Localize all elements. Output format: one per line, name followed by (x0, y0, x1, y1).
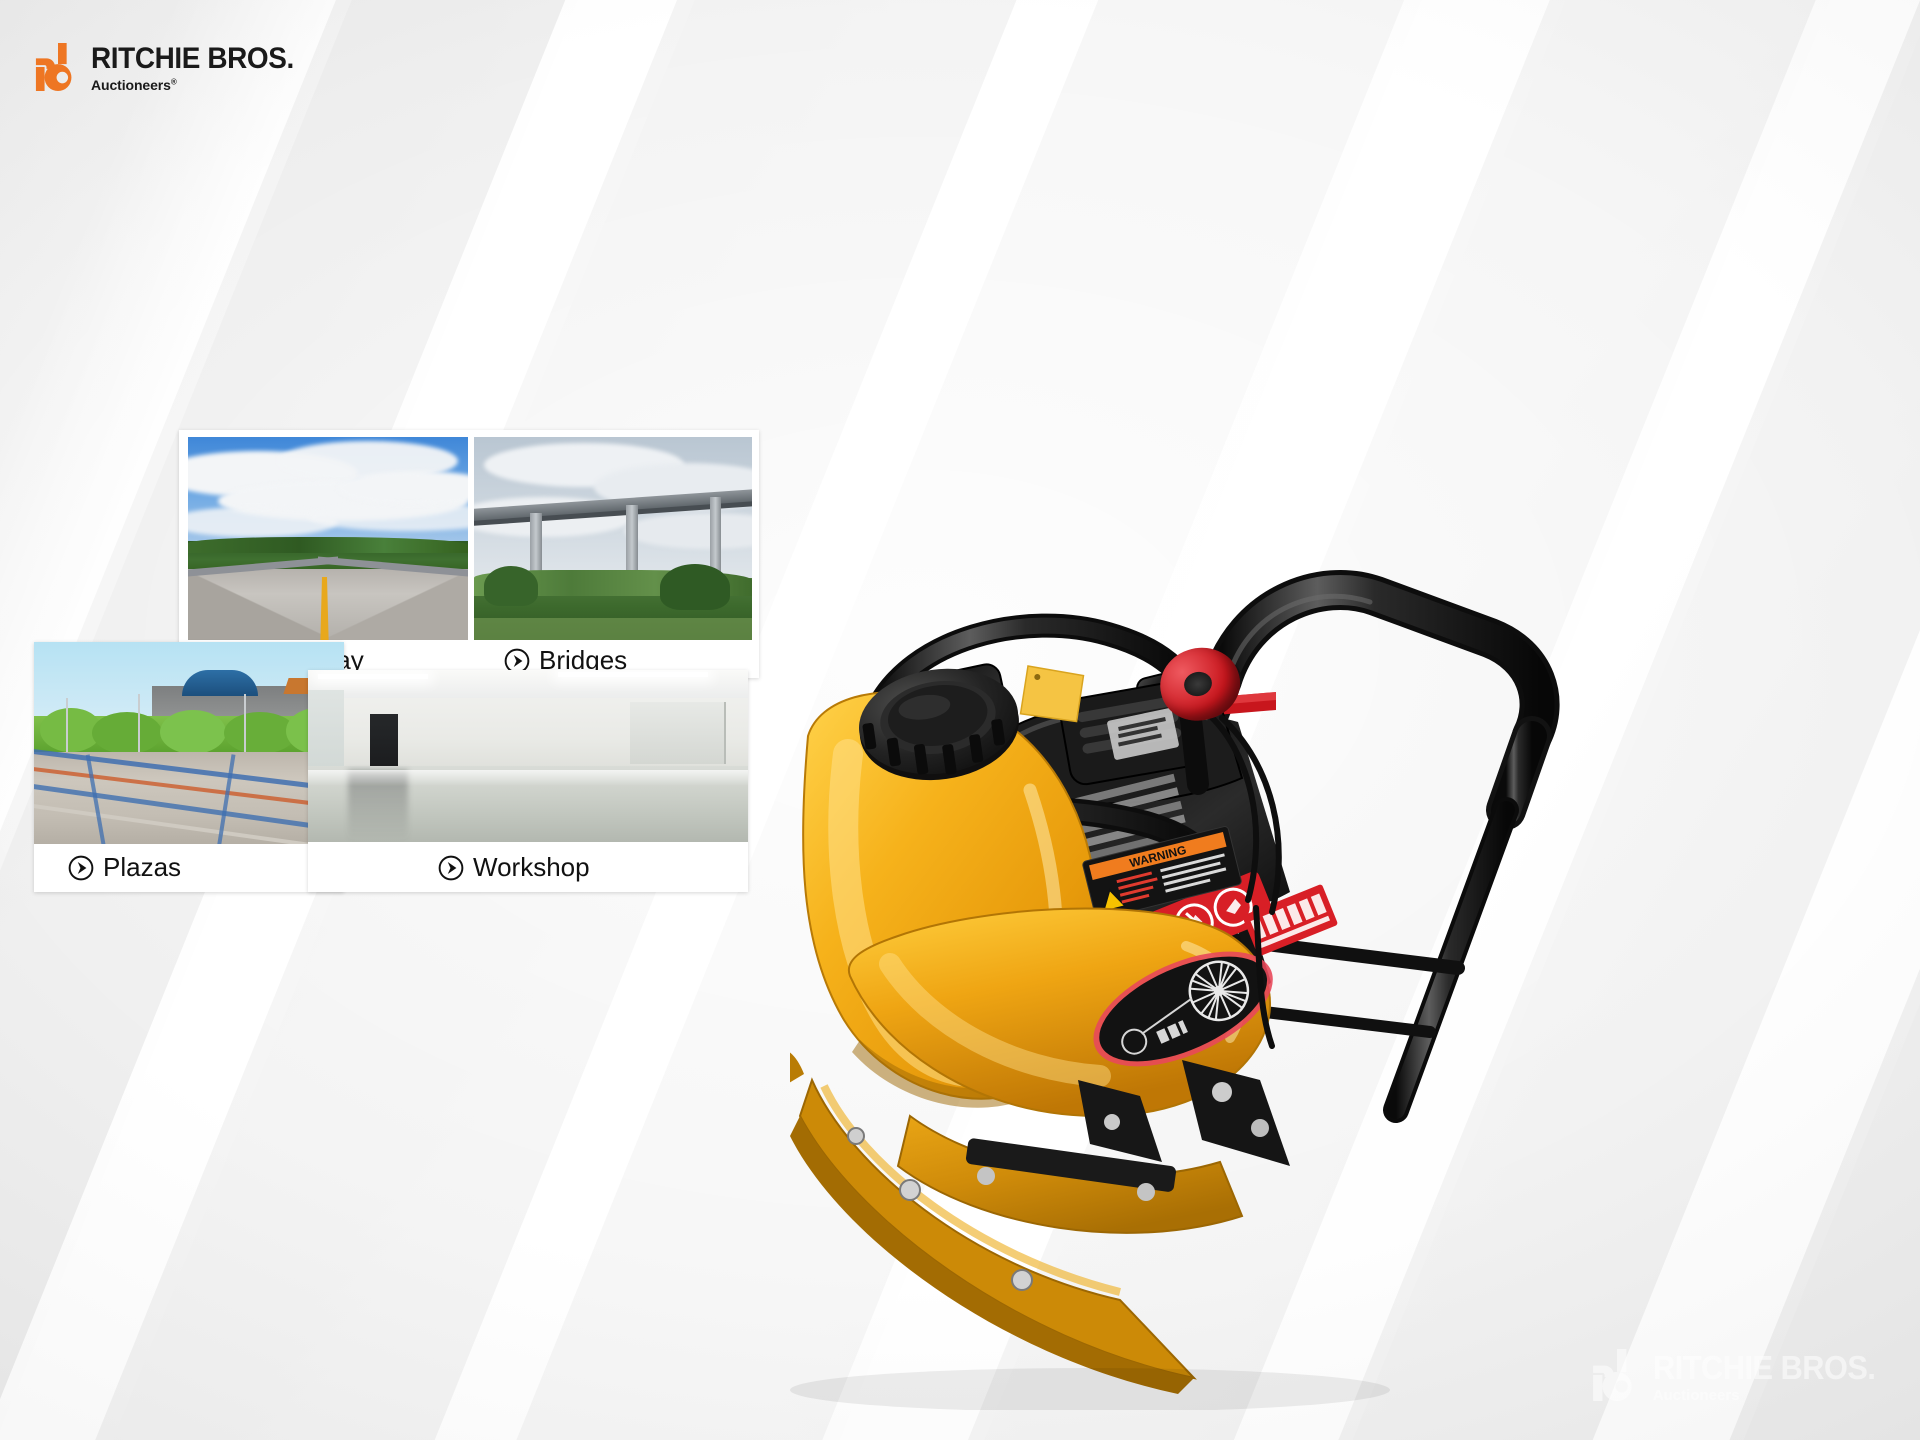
ritchie-bros-logo[interactable]: RITCHIE BROS. Auctioneers® (34, 42, 309, 93)
product-image-plate-compactor[interactable]: WARNING (790, 380, 1850, 1410)
circled-play-arrow-icon (68, 855, 94, 881)
watermark-tagline: Auctioneers (1653, 1387, 1892, 1404)
scene-caption-plazas: Plazas (68, 852, 181, 883)
scene-caption-label: Plazas (103, 852, 181, 883)
slide-canvas: RITCHIE BROS. Auctioneers® Applicable Sc… (0, 0, 1920, 1440)
rb-monogram-icon (34, 42, 82, 92)
circled-play-arrow-icon (438, 855, 464, 881)
logo-wordmark: RITCHIE BROS. (91, 45, 294, 74)
scene-photo-highway[interactable] (188, 437, 468, 640)
scene-caption-label: Workshop (473, 852, 590, 883)
scene-photo-workshop[interactable] (308, 670, 748, 842)
watermark-wordmark: RITCHIE BROS. (1653, 1352, 1875, 1383)
scene-photo-plazas[interactable] (34, 642, 344, 844)
applicable-scene-collage: Highway Bridges (34, 530, 759, 1090)
scene-photo-bridges[interactable] (474, 437, 752, 640)
scene-caption-workshop: Workshop (438, 852, 590, 883)
plate-compactor-illustration: WARNING (790, 380, 1850, 1410)
logo-tagline: Auctioneers® (91, 77, 309, 93)
ritchie-bros-watermark: RITCHIE BROS. Auctioneers (1591, 1348, 1892, 1404)
rb-monogram-icon (1591, 1348, 1643, 1402)
